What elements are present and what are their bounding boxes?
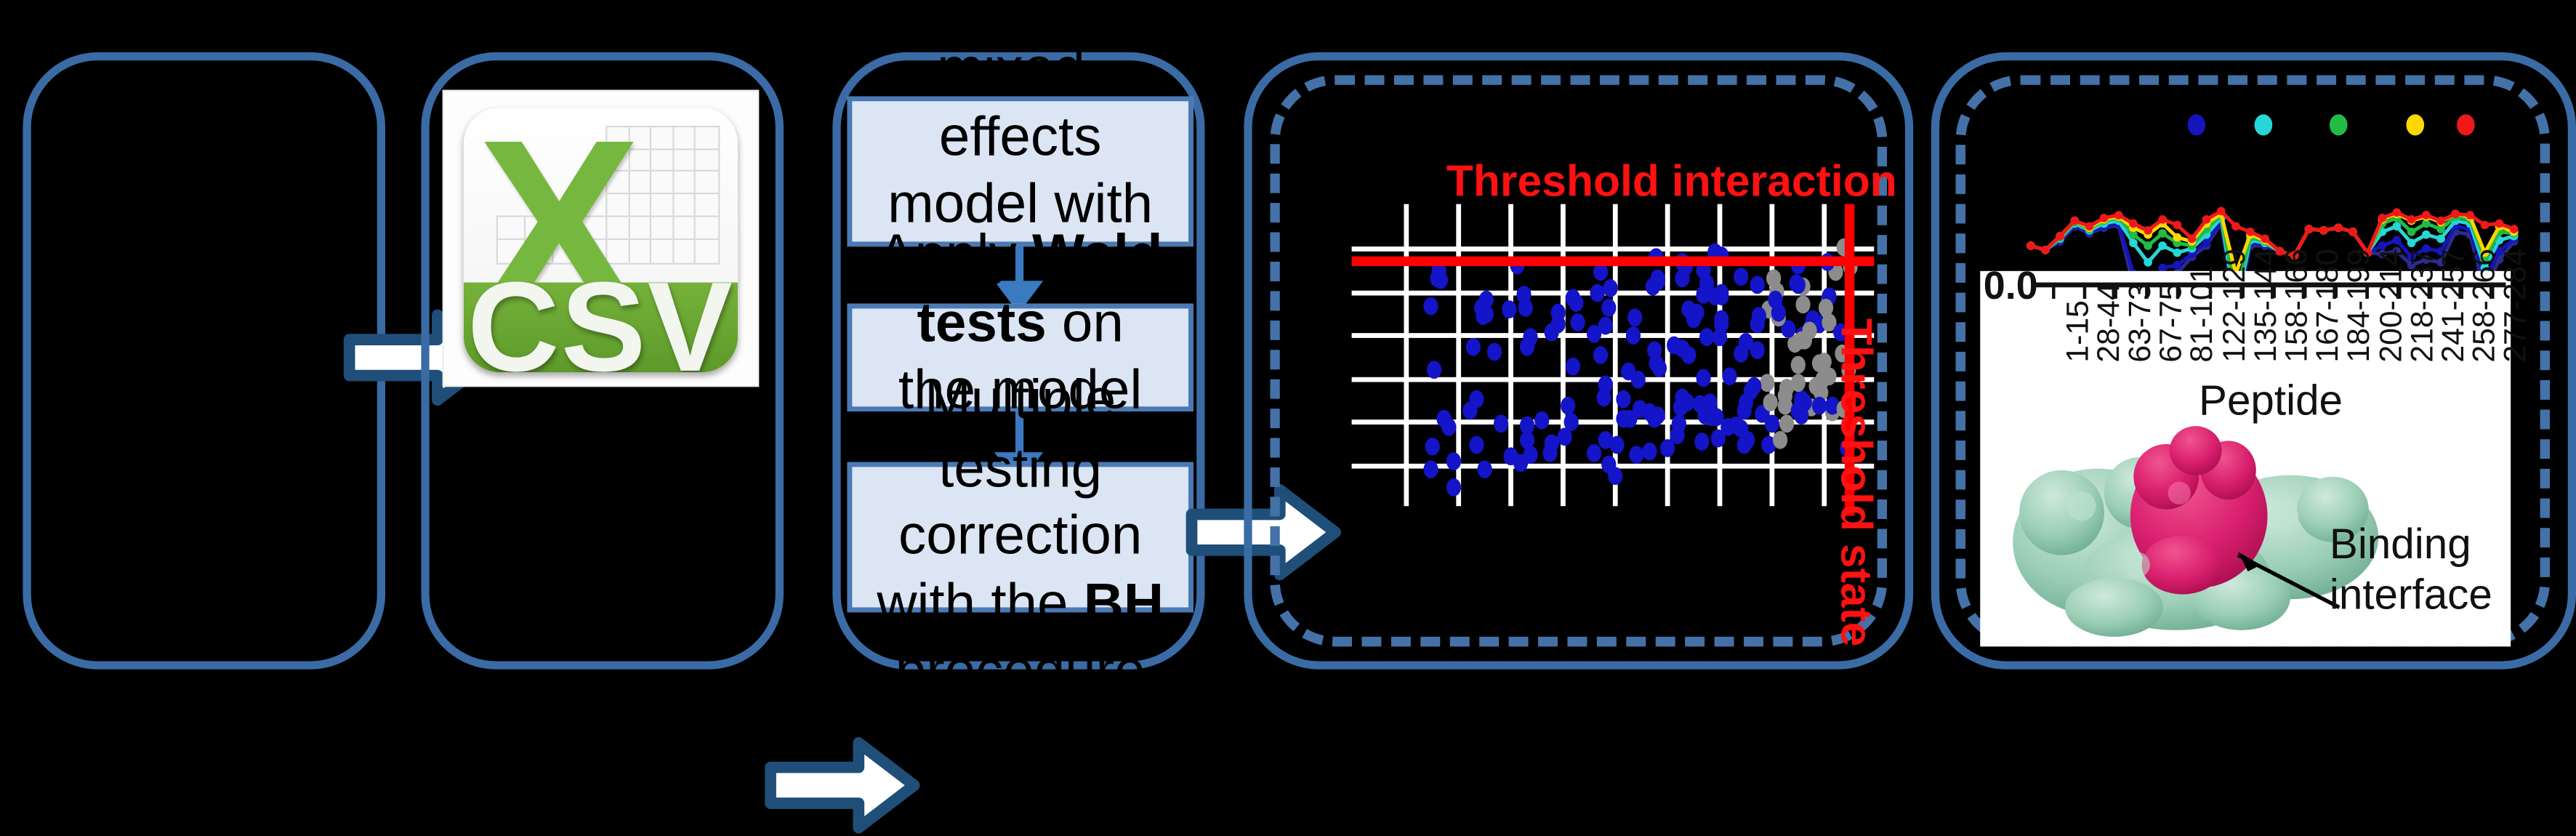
scatter-point-primary xyxy=(1594,346,1609,364)
scatter-point-secondary xyxy=(1790,355,1805,374)
peptide-tickmark xyxy=(2364,283,2367,299)
peptide-tickmark xyxy=(2146,283,2149,299)
scatter-point-primary xyxy=(1430,269,1444,287)
flow-arrow-2 xyxy=(764,735,921,836)
scatter-point-primary xyxy=(1478,460,1492,478)
peptide-tick-label: 200-214 xyxy=(2375,249,2410,363)
chart-series-marker xyxy=(2158,229,2167,238)
scatter-point-primary xyxy=(1670,426,1684,444)
chart-series-marker xyxy=(2173,221,2181,230)
scatter-point-primary xyxy=(1465,339,1480,357)
chart-series-marker xyxy=(2158,241,2167,250)
csv-icon-body: X CSV xyxy=(464,108,738,372)
scatter-point-primary xyxy=(1629,446,1643,464)
peptide-tickmark xyxy=(2302,283,2305,299)
scatter-point-primary xyxy=(1423,460,1438,478)
chart-legend-dot xyxy=(2330,114,2348,135)
csv-label-band: CSV xyxy=(464,282,738,372)
scatter-point-secondary xyxy=(1763,393,1777,411)
scatter-point-primary xyxy=(1587,444,1602,462)
scatter-point-primary xyxy=(1523,446,1537,465)
peptide-tick-label: 135-144 xyxy=(2249,249,2285,363)
scatter-point-secondary xyxy=(1815,371,1830,389)
chart-series-marker xyxy=(2144,226,2152,235)
scatter-point-primary xyxy=(1520,337,1534,355)
chart-series-marker xyxy=(2100,214,2109,222)
chart-series-marker xyxy=(2422,211,2431,220)
scatter-point-primary xyxy=(1569,294,1583,312)
scatter-point-primary xyxy=(1598,316,1613,334)
chart-series-marker xyxy=(2056,232,2064,241)
scatter-point-primary xyxy=(1487,343,1502,361)
chart-series-marker xyxy=(2129,238,2138,247)
chart-series-marker xyxy=(2319,226,2328,235)
chart-series-marker xyxy=(2070,217,2079,225)
chart-series-marker xyxy=(2393,222,2402,230)
peptide-tick-label: 184-199 xyxy=(2343,249,2379,363)
scatter-point-primary xyxy=(1469,435,1484,454)
chart-series-marker xyxy=(2393,208,2402,217)
peptide-tickmark xyxy=(2239,283,2242,299)
scatter-point-primary xyxy=(1425,438,1440,456)
chart-series-marker xyxy=(2510,225,2519,233)
peptide-tickmark xyxy=(2459,283,2462,299)
figure-canvas: X CSV Fit a linear mixed-effects model w… xyxy=(0,0,2576,688)
chart-series-marker xyxy=(2407,215,2416,224)
scatter-point-primary xyxy=(1545,323,1560,342)
peptide-tickmark xyxy=(2333,283,2336,299)
scatter-point-primary xyxy=(1601,298,1616,316)
chart-series-marker xyxy=(2173,233,2181,242)
peptide-tick-label: 81-101 xyxy=(2186,266,2222,363)
csv-x-letter: X xyxy=(478,113,576,234)
scatter-point-primary xyxy=(1520,417,1534,435)
threshold-state-label: Threshold state xyxy=(1830,318,1881,647)
chart-series-marker xyxy=(2407,238,2416,247)
binding-interface-annotation: Binding interface xyxy=(2330,519,2492,619)
scatter-point-primary xyxy=(1739,334,1753,352)
scatter-point-primary xyxy=(1610,436,1625,454)
chart-series-marker xyxy=(2202,238,2211,247)
chart-series-marker xyxy=(2026,241,2035,250)
scatter-point-primary xyxy=(1558,428,1572,446)
chart-series-marker xyxy=(2202,215,2211,224)
chart-series-marker xyxy=(2436,217,2445,225)
scatter-plot xyxy=(1352,204,1875,506)
chart-series-marker xyxy=(2085,222,2094,230)
scatter-point-secondary xyxy=(1790,374,1805,392)
scatter-point-primary xyxy=(1463,402,1478,420)
chart-series-marker xyxy=(2495,220,2504,228)
chart-series-marker xyxy=(2173,249,2181,257)
chart-legend-dot xyxy=(2187,114,2205,135)
chart-series-marker xyxy=(2144,258,2152,267)
multiple-testing-box: Multiple testingcorrectionwith the BH pr… xyxy=(848,462,1194,613)
peptide-tickmark xyxy=(2208,283,2211,299)
scatter-point-primary xyxy=(1441,419,1456,437)
peptide-tickmark xyxy=(2428,283,2431,299)
y-axis-zero-label: 0.0 xyxy=(1984,265,2038,310)
scatter-point-primary xyxy=(1589,284,1603,302)
scatter-point-primary xyxy=(1603,279,1617,297)
chart-series-marker xyxy=(2436,235,2445,244)
chart-series-marker xyxy=(2422,230,2431,239)
chart-legend-dot xyxy=(2255,114,2273,135)
chart-series-marker xyxy=(2114,211,2123,220)
chart-series-marker xyxy=(2041,246,2050,254)
scatter-point-primary xyxy=(1542,444,1556,462)
scatter-point-primary xyxy=(1608,467,1622,486)
chart-series-marker xyxy=(2217,207,2226,216)
scatter-point-primary xyxy=(1675,270,1689,288)
scatter-point-primary xyxy=(1617,390,1631,408)
scatter-point-primary xyxy=(1704,408,1719,426)
scatter-point-primary xyxy=(1692,395,1707,413)
scatter-point-primary xyxy=(1560,396,1574,414)
scatter-point-primary xyxy=(1714,284,1728,302)
chart-series-marker xyxy=(2481,221,2490,230)
scatter-point-primary xyxy=(1694,433,1709,451)
chart-series-marker xyxy=(2231,222,2240,230)
scatter-point-secondary xyxy=(1816,353,1831,371)
peptide-tick-label: 1-15 xyxy=(2061,300,2097,362)
csv-label: CSV xyxy=(467,253,734,372)
peptide-tickmark xyxy=(2490,283,2493,299)
scatter-point-primary xyxy=(1474,299,1489,317)
scatter-point-primary xyxy=(1535,411,1550,430)
peptide-tick-label: 277-284 xyxy=(2500,249,2535,363)
structure-inset-card: 0.0 1-1528-4463-7367-7581-101122-129135-… xyxy=(1980,271,2511,647)
binding-interface-line1: Binding xyxy=(2330,519,2492,569)
chart-series-marker xyxy=(2261,235,2269,244)
peptide-tick-label: 28-44 xyxy=(2093,283,2128,362)
scatter-point-primary xyxy=(1566,358,1581,376)
peptide-tickmark xyxy=(2271,283,2274,299)
peptide-tickmark xyxy=(2051,283,2054,299)
chart-series-marker xyxy=(2348,228,2357,236)
multiple-testing-box-text: Multiple testingcorrectionwith the BH pr… xyxy=(869,368,1172,707)
scatter-point-primary xyxy=(1642,442,1657,460)
peptide-tick-label: 122-129 xyxy=(2218,249,2253,363)
scatter-point-primary xyxy=(1518,300,1532,318)
chart-series-marker xyxy=(2129,220,2138,228)
chart-series-marker xyxy=(2246,228,2255,236)
chart-legend-dot xyxy=(2406,114,2424,135)
chart-series-marker xyxy=(2451,209,2460,218)
threshold-interaction-line xyxy=(1352,257,1875,266)
chart-series-marker xyxy=(2188,235,2197,244)
chart-series-marker xyxy=(2144,241,2152,250)
peptide-tickmark xyxy=(2082,283,2085,299)
scatter-point-primary xyxy=(1493,414,1508,433)
scatter-point-primary xyxy=(1696,369,1711,387)
scatter-point-primary xyxy=(1712,327,1727,345)
chart-series-marker xyxy=(2466,211,2474,220)
scatter-point-primary xyxy=(1446,478,1461,497)
scatter-point-secondary xyxy=(1759,374,1774,393)
scatter-point-primary xyxy=(1734,267,1748,285)
peptide-tickmark xyxy=(2114,283,2117,299)
chart-series-marker xyxy=(2393,236,2402,245)
chart-series-marker xyxy=(2305,225,2314,233)
binding-interface-line2: interface xyxy=(2330,569,2492,619)
scatter-point-secondary xyxy=(1777,387,1792,406)
scatter-point-primary xyxy=(1689,303,1704,321)
chart-series-marker xyxy=(2407,228,2416,236)
peptide-tickmark xyxy=(2177,283,2180,299)
scatter-point-primary xyxy=(1681,346,1696,364)
scatter-point-primary xyxy=(1627,326,1641,345)
chart-series-marker xyxy=(2378,214,2387,222)
scatter-point-primary xyxy=(1723,367,1737,385)
input-panel xyxy=(23,52,385,670)
chart-series-marker xyxy=(2334,223,2343,232)
chart-series-marker xyxy=(2158,215,2167,224)
threshold-interaction-label: Threshold interaction xyxy=(1446,157,1897,208)
scatter-gridline-h xyxy=(1352,247,1875,252)
scatter-point-primary xyxy=(1502,300,1516,318)
csv-file-icon: X CSV xyxy=(444,92,757,385)
scatter-point-primary xyxy=(1627,310,1641,328)
chart-series-marker xyxy=(2173,261,2181,270)
peptide-tick-label: 218-237 xyxy=(2406,249,2442,363)
scatter-point-primary xyxy=(1424,297,1438,315)
scatter-point-primary xyxy=(1699,328,1713,346)
scatter-point-primary xyxy=(1550,303,1565,321)
chart-legend-dot xyxy=(2457,114,2475,135)
peptide-tickmark xyxy=(2396,283,2399,299)
scatter-point-secondary xyxy=(1773,430,1787,449)
scatter-point-primary xyxy=(1750,276,1764,294)
scatter-point-primary xyxy=(1571,314,1585,332)
